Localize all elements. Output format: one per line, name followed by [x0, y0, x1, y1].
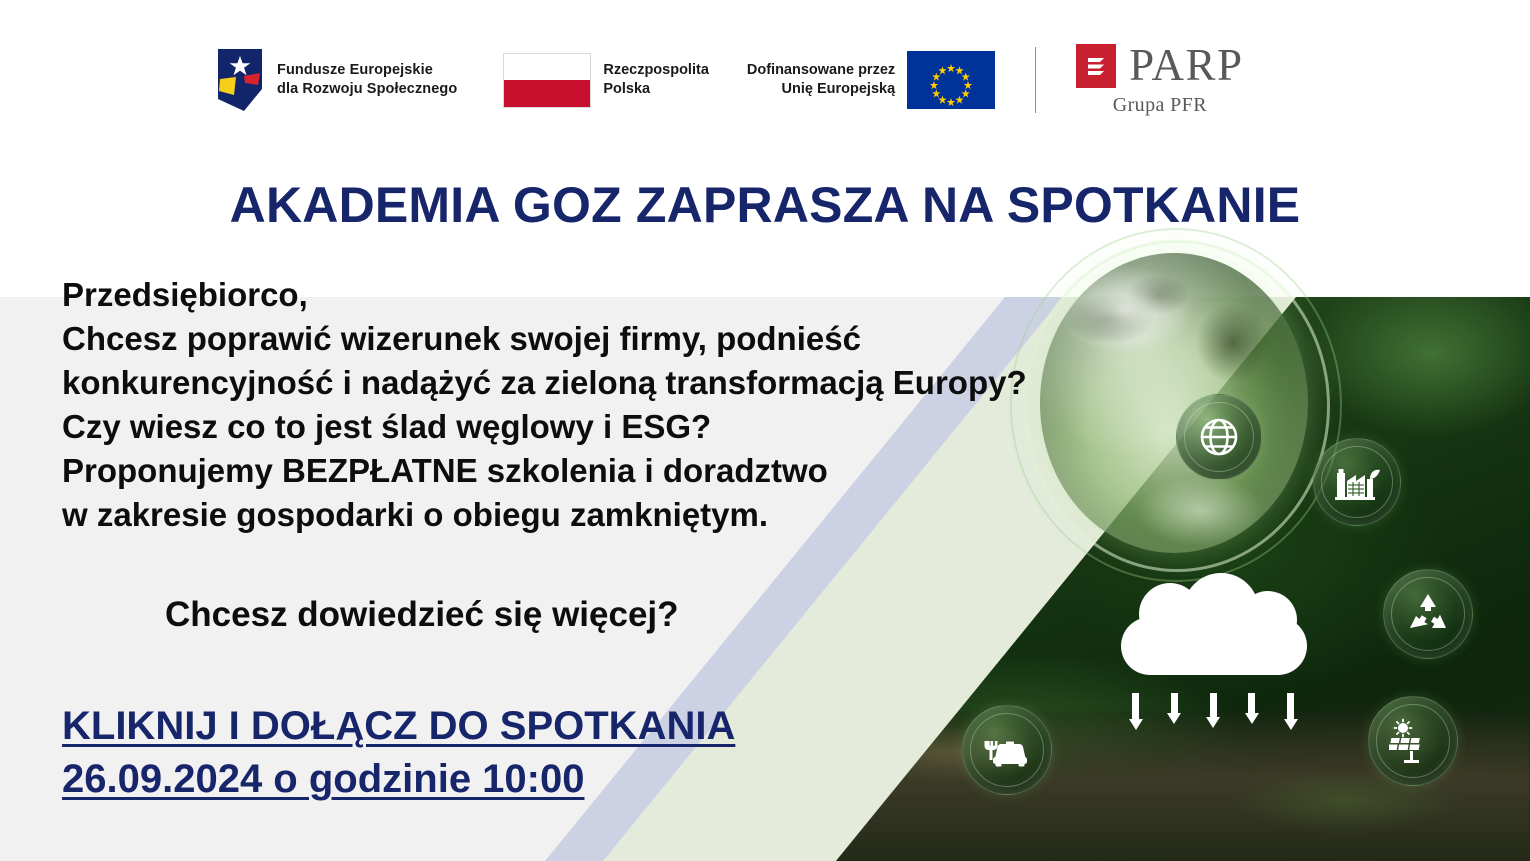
copy-line-6: w zakresie gospodarki o obiegu zamknięty… [62, 493, 1242, 537]
question-line: Chcesz dowiedzieć się więcej? [165, 595, 679, 635]
logo-parp: PARP Grupa PFR [1076, 43, 1243, 117]
logo-rzeczpospolita-polska: Rzeczpospolita Polska [503, 53, 709, 108]
factory-leaf-icon [1313, 438, 1401, 526]
copy-line-1: Przedsiębiorco, [62, 273, 1242, 317]
copy-line-4: Czy wiesz co to jest ślad węglowy i ESG? [62, 405, 1242, 449]
logo-divider [1035, 47, 1036, 113]
join-meeting-link[interactable]: KLIKNIJ I DOŁĄCZ DO SPOTKANIA 26.09.2024… [62, 700, 735, 806]
page-title: AKADEMIA GOZ ZAPRASZA NA SPOTKANIE [0, 176, 1530, 234]
parp-mark-icon [1076, 44, 1116, 88]
logo-eu-text: Dofinansowane przez Unię Europejską [747, 61, 895, 99]
cta-line-2: 26.09.2024 o godzinie 10:00 [62, 753, 735, 806]
down-arrow-icon [1283, 693, 1298, 730]
funding-logo-strip: Fundusze Europejskie dla Rozwoju Społecz… [0, 0, 1530, 160]
copy-line-2: Chcesz poprawić wizerunek swojej firmy, … [62, 317, 1242, 361]
co2-down-arrows [1128, 693, 1298, 749]
solar-panel-icon [1368, 696, 1458, 786]
logo-fundusze-europejskie: Fundusze Europejskie dla Rozwoju Społecz… [214, 49, 457, 111]
recycle-icon [1383, 569, 1473, 659]
down-arrow-icon [1167, 693, 1182, 724]
body-copy: Przedsiębiorco, Chcesz poprawić wizerune… [62, 273, 1242, 537]
parp-subtitle: Grupa PFR [1113, 94, 1207, 117]
poster-root: Fundusze Europejskie dla Rozwoju Społecz… [0, 0, 1530, 861]
cta-line-1: KLIKNIJ I DOŁĄCZ DO SPOTKANIA [62, 700, 735, 753]
down-arrow-icon [1128, 693, 1143, 730]
down-arrow-icon [1206, 693, 1221, 728]
copy-line-3: konkurencyjność i nadążyć za zieloną tra… [62, 361, 1242, 405]
fe-stars-logo-icon [214, 49, 266, 111]
electric-car-icon [962, 705, 1052, 795]
logo-unia-europejska: Dofinansowane przez Unię Europejską [747, 51, 995, 109]
logo-polska-text: Rzeczpospolita Polska [603, 61, 709, 99]
fe-line1: Fundusze Europejskie [277, 61, 457, 80]
parp-wordmark: PARP [1129, 43, 1243, 88]
pl-line1: Rzeczpospolita [603, 61, 709, 80]
logo-fundusze-text: Fundusze Europejskie dla Rozwoju Społecz… [277, 61, 457, 99]
pl-line2: Polska [603, 80, 709, 99]
co2-cloud-icon [1121, 573, 1307, 677]
polish-flag-icon [503, 53, 591, 108]
fe-line2: dla Rozwoju Społecznego [277, 80, 457, 99]
down-arrow-icon [1244, 693, 1259, 724]
eu-flag-icon [907, 51, 995, 109]
copy-line-5: Proponujemy BEZPŁATNE szkolenia i doradz… [62, 449, 1242, 493]
eu-line1: Dofinansowane przez [747, 61, 895, 80]
eu-line2: Unię Europejską [747, 80, 895, 99]
